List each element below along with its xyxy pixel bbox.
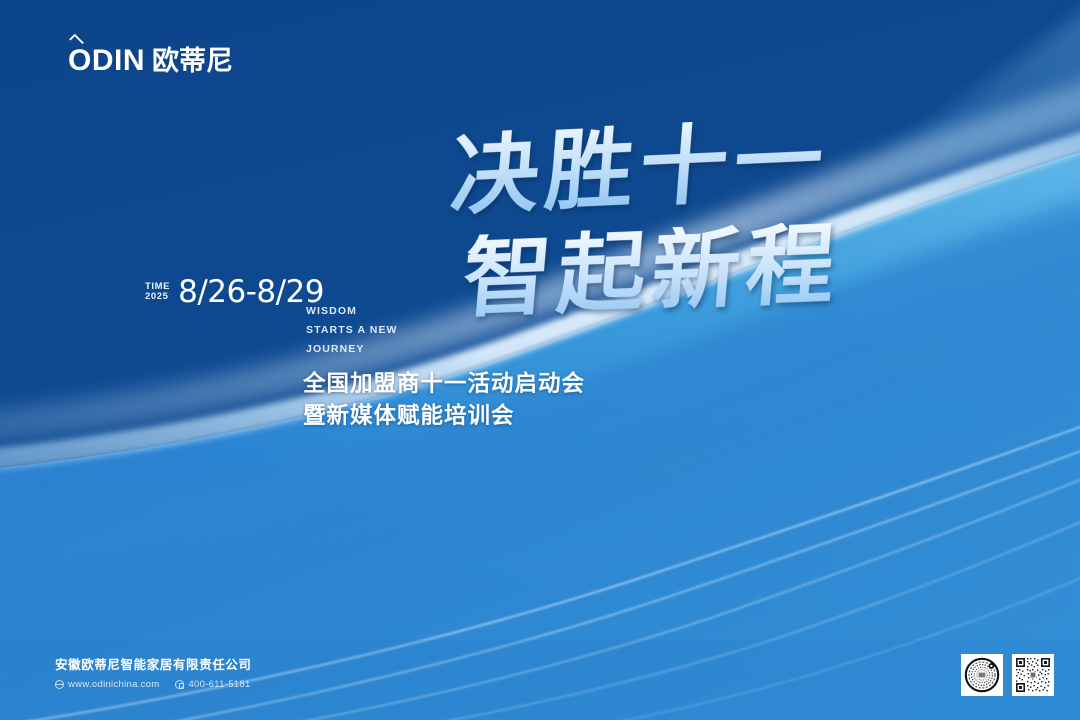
wechat-round-code[interactable] <box>961 654 1003 696</box>
event-subtitle: 全国加盟商十一活动启动会 暨新媒体赋能培训会 <box>303 368 585 432</box>
event-date-range: 8/26-8/29 <box>178 277 324 308</box>
phone-icon <box>175 680 184 689</box>
company-name: 安徽欧蒂尼智能家居有限责任公司 <box>55 654 252 673</box>
qr-code-icon <box>1015 657 1051 693</box>
website-text: www.odinichina.com <box>68 679 159 690</box>
headline-calligraphy: 决胜十一 智起新程 <box>452 108 922 348</box>
phone-item[interactable]: 400-611-5181 <box>175 679 250 690</box>
tagline-line-1: WISDOM <box>306 302 398 321</box>
tagline-line-3: JOURNEY <box>306 340 398 359</box>
headline-line-1: 决胜十一 <box>448 111 927 220</box>
footer: 安徽欧蒂尼智能家居有限责任公司 www.odinichina.com 400-6… <box>55 654 252 690</box>
time-label-year: 2025 <box>145 292 170 302</box>
time-label: TIME 2025 <box>145 282 170 308</box>
globe-icon <box>55 680 64 689</box>
poster-canvas: ODIN 欧蒂尼 决胜十一 智起新程 TIME 2025 8/26-8/29 W… <box>0 0 1080 720</box>
event-date-block: TIME 2025 8/26-8/29 <box>145 277 324 308</box>
brand-wordmark-text: ODIN <box>68 44 145 77</box>
english-tagline: WISDOM STARTS A NEW JOURNEY <box>306 302 398 359</box>
event-subtitle-line-2: 暨新媒体赋能培训会 <box>303 400 585 432</box>
brand-name-cn: 欧蒂尼 <box>152 46 233 76</box>
qr-code-group <box>961 654 1054 696</box>
qr-code[interactable] <box>1012 654 1054 696</box>
wechat-round-code-icon <box>964 657 1000 693</box>
website-item[interactable]: www.odinichina.com <box>55 679 159 690</box>
tagline-line-2: STARTS A NEW <box>306 321 398 340</box>
event-subtitle-line-1: 全国加盟商十一活动启动会 <box>303 368 585 400</box>
contact-row: www.odinichina.com 400-611-5181 <box>55 679 252 690</box>
brand-logo: ODIN 欧蒂尼 <box>68 46 233 76</box>
phone-text: 400-611-5181 <box>188 679 250 690</box>
headline-line-2: 智起新程 <box>459 217 938 323</box>
brand-wordmark: ODIN <box>68 46 145 76</box>
